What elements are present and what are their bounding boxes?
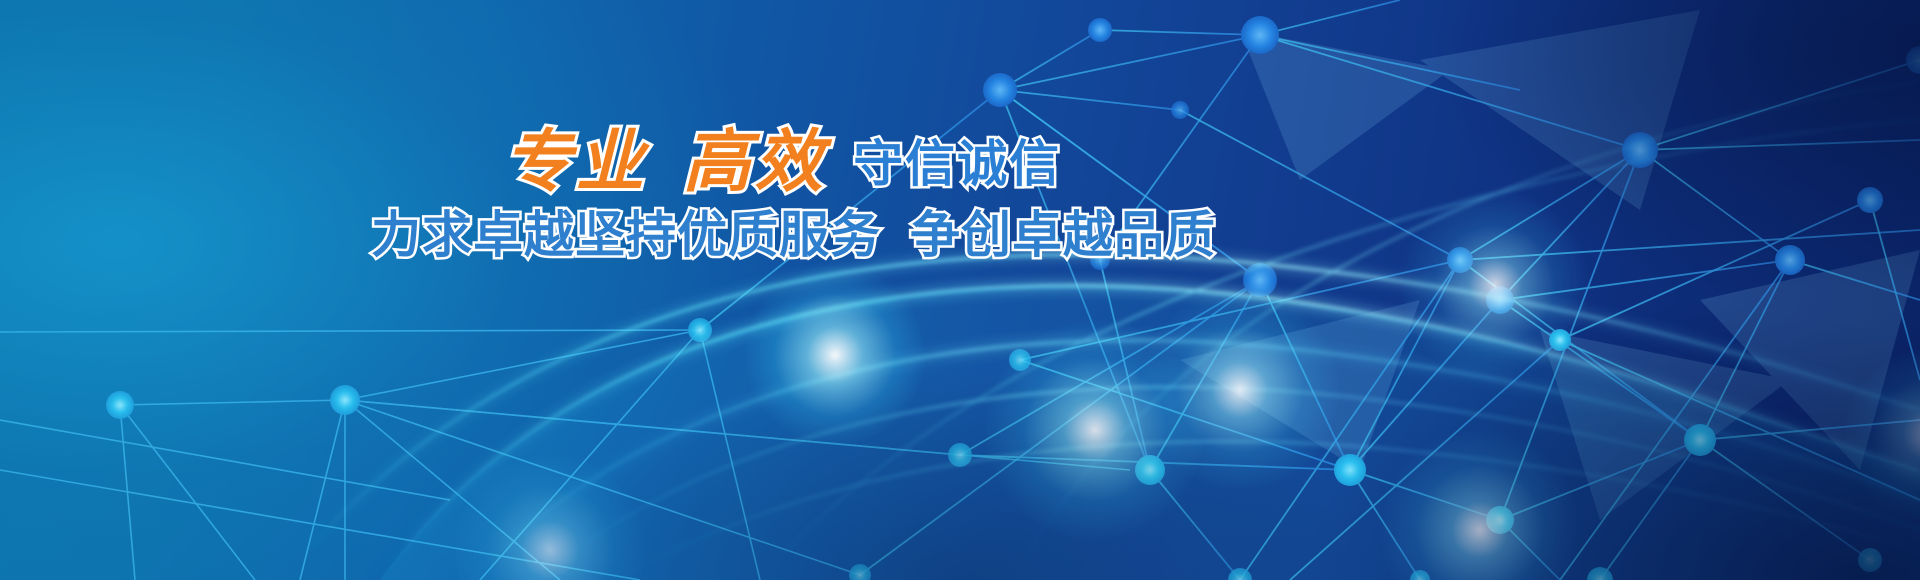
light-burst-lower-center [985,320,1205,540]
light-burst-far-right [1380,430,1580,580]
light-burst-right-mid [1400,190,1590,380]
light-burst-right-upper [1140,290,1340,490]
hero-banner: 专业 高效 守信诚信 力求卓越坚持优质服务 争创卓越品质 [0,0,1920,580]
light-burst-bottom-left [455,455,645,580]
light-burst-edge [1845,350,1920,520]
light-burst-center [745,265,925,445]
light-burst-layer [0,0,1920,580]
